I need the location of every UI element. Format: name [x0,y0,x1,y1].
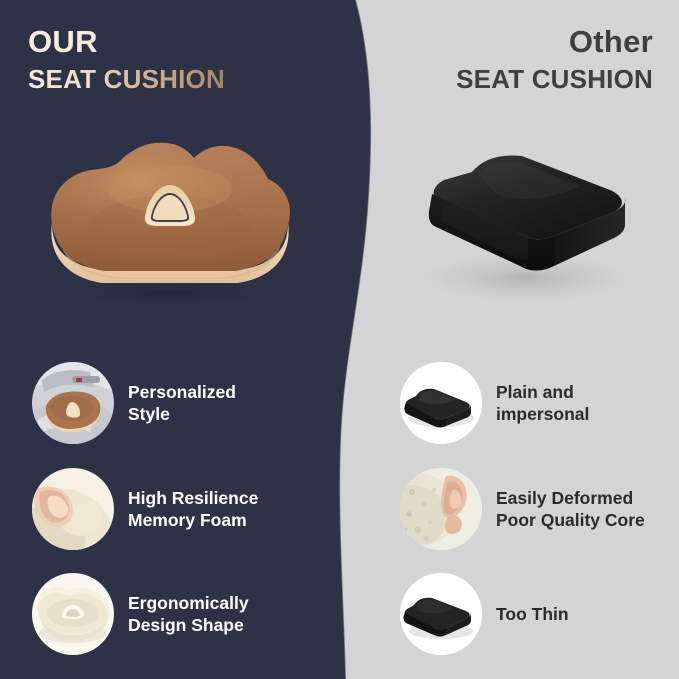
thin-black-cushion-icon [400,573,482,655]
hand-pressing-memory-foam-thumbnail [32,468,114,550]
right-feature-label-2: Easily Deformed Poor Quality Core [496,487,645,532]
left-feature-label-2: High Resilience Memory Foam [128,487,258,532]
right-feature-label-2-line2: Poor Quality Core [496,509,645,531]
hand-on-foam-icon [32,468,114,550]
black-flat-cushion-thumbnail [400,362,482,444]
left-feature-label-3: Ergonomically Design Shape [128,592,249,637]
right-feature-label-2-line1: Easily Deformed [496,487,645,509]
right-heading-block: Other SEAT CUSHION [456,26,653,92]
right-feature-label-3: Too Thin [496,603,569,625]
left-heading-block: OUR SEAT CUSHION [28,26,225,92]
left-heading-line1: OUR [28,26,225,57]
right-heading-line2: SEAT CUSHION [456,66,653,92]
left-feature-label-1-line2: Style [128,403,236,425]
left-heading-line2: SEAT CUSHION [28,66,225,92]
left-feature-item-3: Ergonomically Design Shape [32,573,322,655]
cream-ergonomic-foam-core-thumbnail [32,573,114,655]
right-feature-label-1-line1: Plain and [496,381,589,403]
our-cushion-hero-image [30,125,310,315]
car-seat-cushion-icon [32,362,114,444]
left-feature-label-1: Personalized Style [128,381,236,426]
right-feature-label-3-line1: Too Thin [496,603,569,625]
thin-black-cushion-thumbnail [400,573,482,655]
left-feature-label-3-line2: Design Shape [128,614,249,636]
other-cushion-hero-image [404,128,654,313]
cream-foam-core-icon [32,573,114,655]
cushion-on-car-seat-thumbnail [32,362,114,444]
right-feature-item-1: Plain and impersonal [400,362,675,444]
left-feature-label-3-line1: Ergonomically [128,592,249,614]
left-feature-label-2-line1: High Resilience [128,487,258,509]
brown-ergonomic-seat-cushion-icon [30,125,310,315]
hand-squeezing-crumbly-foam-thumbnail [400,468,482,550]
left-feature-item-2: High Resilience Memory Foam [32,468,322,550]
comparison-infographic: OUR SEAT CUSHION Other SEAT CUSHION [0,0,679,679]
right-feature-label-1-line2: impersonal [496,403,589,425]
right-feature-item-3: Too Thin [400,573,675,655]
crumbly-foam-icon [400,468,482,550]
left-feature-label-1-line1: Personalized [128,381,236,403]
right-feature-label-1: Plain and impersonal [496,381,589,426]
left-feature-item-1: Personalized Style [32,362,322,444]
flat-black-cushion-icon [400,362,482,444]
black-flat-square-cushion-icon [404,128,654,313]
left-feature-label-2-line2: Memory Foam [128,509,258,531]
right-feature-item-2: Easily Deformed Poor Quality Core [400,468,675,550]
right-heading-line1: Other [456,26,653,57]
